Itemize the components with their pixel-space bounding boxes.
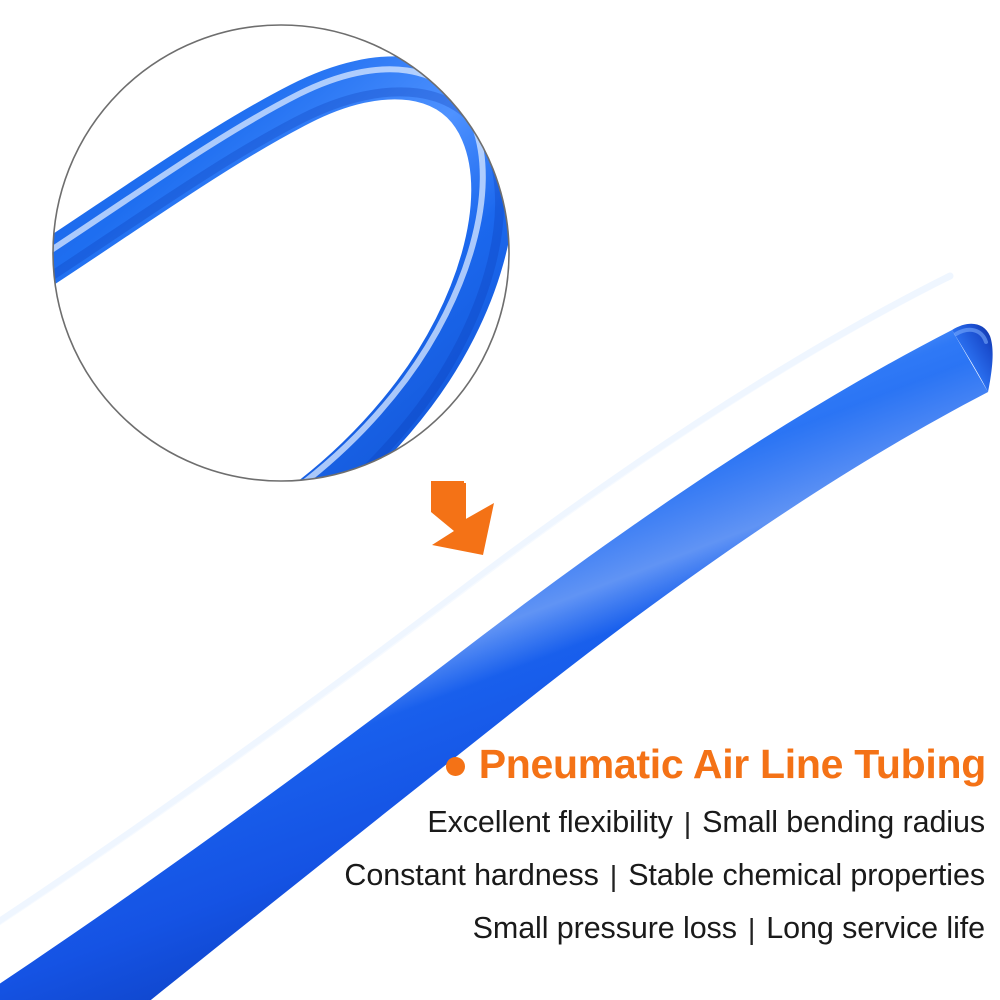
feature-2-right: Stable chemical properties (628, 858, 985, 892)
feature-line-3: Small pressure loss|Long service life (0, 913, 988, 944)
feature-2-left: Constant hardness (344, 858, 598, 892)
product-image: Pneumatic Air Line Tubing Excellent flex… (0, 0, 1000, 1000)
feature-2-separator: | (599, 863, 628, 892)
feature-3-right: Long service life (766, 911, 985, 945)
feature-line-2: Constant hardness|Stable chemical proper… (0, 860, 988, 891)
product-text-block: Pneumatic Air Line Tubing Excellent flex… (0, 744, 988, 944)
bullet-dot-icon (446, 757, 465, 776)
feature-1-left: Excellent flexibility (427, 805, 672, 839)
feature-1-separator: | (673, 810, 702, 839)
feature-3-left: Small pressure loss (473, 911, 737, 945)
page-title: Pneumatic Air Line Tubing (479, 744, 986, 785)
headline-row: Pneumatic Air Line Tubing (0, 744, 988, 785)
feature-1-right: Small bending radius (702, 805, 985, 839)
down-right-arrow-icon (431, 481, 494, 555)
feature-3-separator: | (737, 916, 766, 945)
feature-line-1: Excellent flexibility|Small bending radi… (0, 807, 988, 838)
